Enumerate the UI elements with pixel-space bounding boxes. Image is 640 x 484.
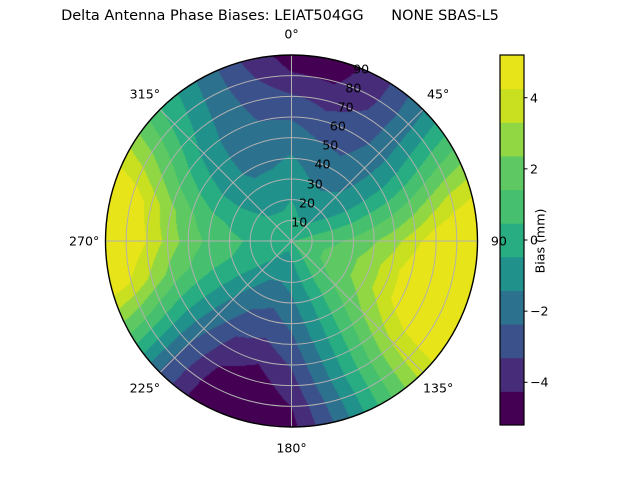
polar-grid	[106, 55, 478, 427]
colorbar-tick-label: 0	[530, 233, 538, 248]
theta-tick-label-0: 0°	[284, 26, 298, 41]
colorbar-tick-label: −4	[530, 375, 549, 390]
theta-tick-label-45: 45°	[427, 87, 449, 102]
radial-tick-label-70: 70	[338, 99, 354, 114]
colorbar-tick-label: 2	[530, 161, 538, 176]
radial-tick-label-30: 30	[307, 176, 323, 191]
radial-tick-label-20: 20	[299, 195, 315, 210]
radial-tick-label-90: 90	[353, 61, 369, 76]
theta-tick-label-180: 180°	[276, 441, 306, 456]
theta-tick-label-135: 135°	[423, 380, 453, 395]
colorbar-tick-label: 4	[530, 90, 538, 105]
radial-tick-label-80: 80	[345, 80, 361, 95]
radial-tick-label-10: 10	[291, 214, 307, 229]
theta-tick-label-225: 225°	[130, 380, 160, 395]
figure-canvas: Delta Antenna Phase Biases: LEIAT504GG N…	[0, 0, 640, 480]
radial-tick-label-40: 40	[314, 157, 330, 172]
theta-tick-label-90: 90	[491, 234, 507, 249]
radial-tick-label-60: 60	[330, 119, 346, 134]
theta-tick-label-270: 270°	[69, 234, 99, 249]
radial-tick-label-50: 50	[322, 138, 338, 153]
colorbar-tick-label: −2	[530, 304, 549, 319]
theta-tick-label-315: 315°	[130, 87, 160, 102]
